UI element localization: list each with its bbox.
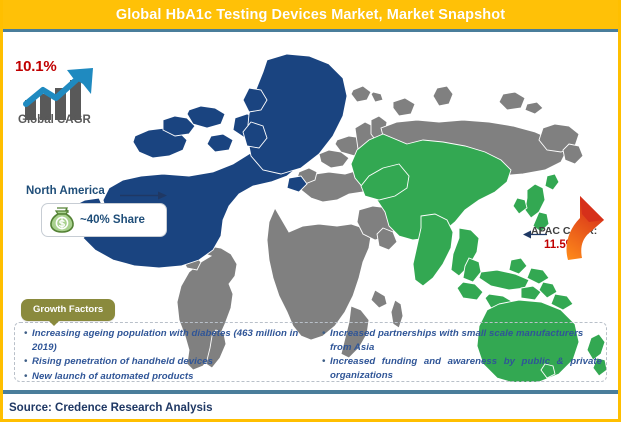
list-item: • Increasing ageing population with diab… — [21, 327, 309, 354]
growth-factor-text: Increased funding and awareness by publi… — [330, 355, 602, 382]
list-item: • New launch of automated products — [21, 370, 309, 384]
global-cagr-badge: 10.1% Global CAGR — [15, 50, 115, 134]
list-item: • Increased partnerships with small scal… — [319, 327, 602, 354]
page-title: Global HbA1c Testing Devices Market, Mar… — [116, 7, 505, 23]
growth-factor-text: Rising penetration of handheld devices — [32, 355, 213, 369]
global-cagr-label: Global CAGR — [18, 114, 91, 126]
growth-factors-tab-notch — [47, 319, 61, 326]
list-item: • Rising penetration of handheld devices — [21, 355, 309, 369]
bullet-icon: • — [21, 327, 32, 340]
north-america-label: North America — [26, 185, 105, 197]
growth-factor-text: Increasing ageing population with diabet… — [32, 327, 309, 354]
list-item: • Increased funding and awareness by pub… — [319, 355, 602, 382]
growth-chart-arrow-icon — [23, 68, 107, 120]
growth-factor-text: New launch of automated products — [32, 370, 194, 384]
north-america-share-value: ~40% Share — [80, 214, 145, 226]
bullet-icon: • — [319, 327, 330, 340]
upward-curved-arrow-icon — [562, 190, 608, 262]
source-attribution: Source: Credence Research Analysis — [9, 402, 212, 414]
bullet-icon: • — [21, 355, 32, 368]
bullet-icon: • — [21, 370, 32, 383]
growth-factor-text: Increased partnerships with small scale … — [330, 327, 602, 354]
infographic-page: Global HbA1c Testing Devices Market, Mar… — [0, 0, 621, 422]
north-america-share-callout: S ~40% Share — [41, 203, 167, 237]
north-america-pointer-arrow-icon — [120, 191, 168, 200]
bullet-icon: • — [319, 355, 330, 368]
footer-divider-bottom — [0, 393, 621, 394]
growth-factors-tab: Growth Factors — [21, 299, 115, 321]
growth-factors-left-column: • Increasing ageing population with diab… — [15, 323, 313, 381]
growth-factors-box: • Increasing ageing population with diab… — [14, 322, 607, 382]
footer-bar: Source: Credence Research Analysis — [0, 397, 621, 419]
header-bar: Global HbA1c Testing Devices Market, Mar… — [0, 0, 621, 29]
growth-factors-right-column: • Increased partnerships with small scal… — [313, 323, 606, 381]
money-bag-icon: S — [47, 206, 77, 234]
